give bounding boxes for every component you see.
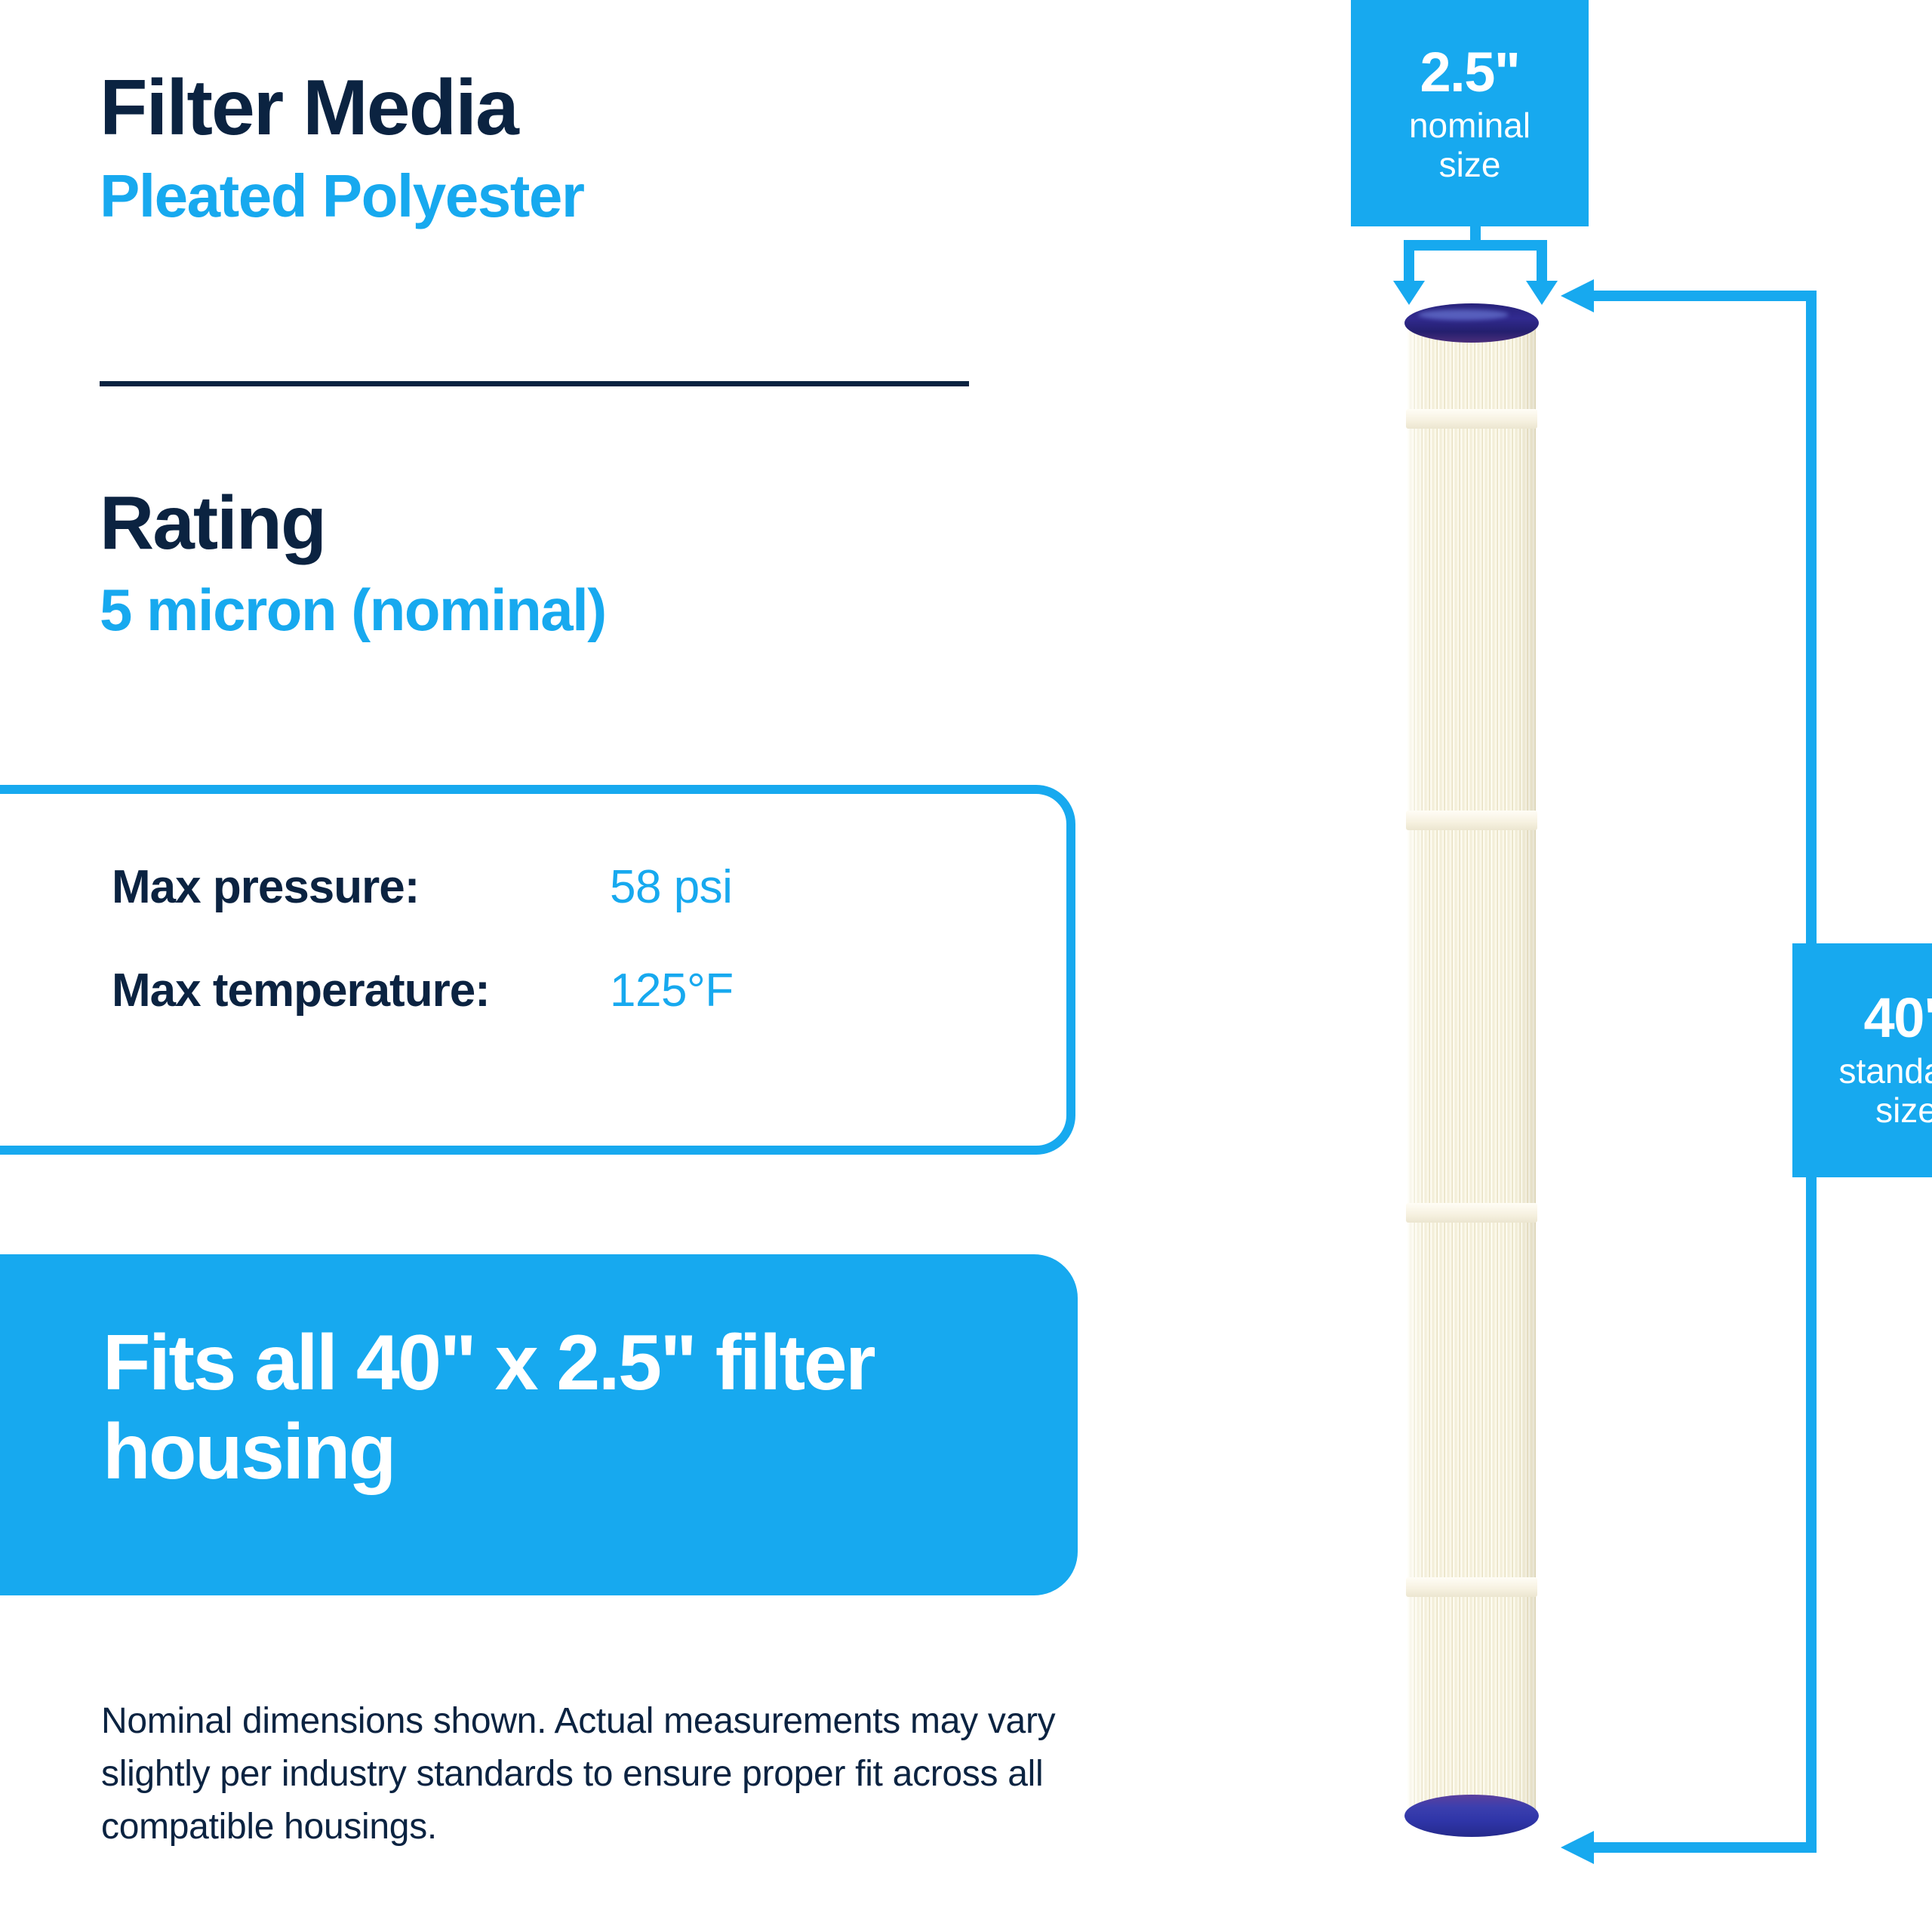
callout-length-label-line2: size: [1875, 1091, 1932, 1130]
width-arrow-left-head: [1393, 281, 1425, 305]
width-bracket-bar: [1404, 240, 1547, 251]
callout-width-value: 2.5": [1420, 45, 1520, 100]
rating-value: 5 micron (nominal): [100, 577, 1005, 645]
callout-length-value: 40": [1864, 990, 1932, 1046]
compatibility-banner-text: Fits all 40" x 2.5" filter housing: [103, 1319, 993, 1497]
filter-media-value: Pleated Polyester: [100, 162, 1005, 231]
length-arrow-bottom-head: [1561, 1831, 1594, 1864]
rating-block: Rating 5 micron (nominal): [100, 483, 1005, 645]
specifications-box: Max pressure: 58 psi Max temperature: 12…: [0, 785, 1075, 1155]
callout-width-label-line2: size: [1439, 145, 1501, 184]
info-column: Filter Media Pleated Polyester Rating 5 …: [0, 0, 1102, 1932]
cartridge-band-4: [1406, 1577, 1537, 1597]
spec-row-list: Max pressure: 58 psi Max temperature: 12…: [112, 860, 987, 1017]
product-illustration-column: 2.5" nominal size 40" standard size: [1102, 0, 1932, 1932]
callout-length-label-line1: standard: [1838, 1051, 1932, 1091]
rating-heading: Rating: [100, 483, 1005, 563]
length-leader-top-horizontal: [1585, 291, 1811, 301]
end-cap-top-highlight: [1418, 309, 1509, 320]
length-leader-bottom-horizontal: [1585, 1842, 1811, 1853]
width-arrow-right-shaft: [1537, 240, 1547, 290]
callout-badge-length: 40" standard size: [1792, 943, 1932, 1177]
cartridge-band-2: [1406, 811, 1537, 830]
spec-row-max-temperature: Max temperature: 125°F: [112, 964, 987, 1017]
callout-width-label-line1: nominal: [1409, 106, 1531, 145]
spec-value-max-temperature: 125°F: [610, 964, 734, 1017]
filter-cartridge-image: [1407, 303, 1536, 1837]
disclaimer-text: Nominal dimensions shown. Actual measure…: [101, 1695, 1097, 1854]
end-cap-bottom: [1404, 1795, 1539, 1837]
filter-media-block: Filter Media Pleated Polyester: [100, 66, 1005, 231]
section-divider: [100, 381, 969, 386]
length-arrow-top-head: [1561, 279, 1594, 312]
page-title: Filter Media: [100, 66, 1005, 149]
width-arrow-left-shaft: [1404, 240, 1414, 290]
spec-label-max-pressure: Max pressure:: [112, 860, 610, 914]
spec-row-max-pressure: Max pressure: 58 psi: [112, 860, 987, 914]
compatibility-banner: Fits all 40" x 2.5" filter housing: [0, 1254, 1078, 1595]
cartridge-band-3: [1406, 1203, 1537, 1223]
callout-length-label: standard size: [1838, 1052, 1932, 1130]
spec-value-max-pressure: 58 psi: [610, 860, 732, 914]
cartridge-band-1: [1406, 409, 1537, 429]
callout-width-label: nominal size: [1409, 106, 1531, 184]
width-arrow-right-head: [1526, 281, 1558, 305]
spec-label-max-temperature: Max temperature:: [112, 964, 610, 1017]
callout-badge-width: 2.5" nominal size: [1351, 0, 1589, 226]
